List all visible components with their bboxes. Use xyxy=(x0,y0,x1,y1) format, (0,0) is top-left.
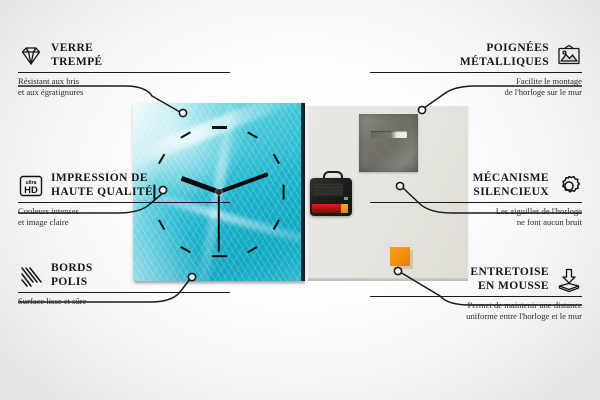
mechanism-indicator xyxy=(344,197,348,200)
callout-entretoise-en-mousse: ENTRETOISE EN MOUSSE Permet de maintenir… xyxy=(370,266,582,321)
infographic-canvas: VERRE TREMPÉ Résistant aux bris et aux é… xyxy=(0,0,600,400)
callout-header: ultra HD IMPRESSION DE HAUTE QUALITÉ xyxy=(18,172,230,199)
hanger-slot xyxy=(371,131,407,138)
callout-title: BORDS POLIS xyxy=(51,262,93,289)
callout-bords-polis: BORDS POLIS Surface lisse et sûre xyxy=(18,262,230,307)
mechanism-label xyxy=(313,183,343,196)
callout-divider xyxy=(18,292,230,293)
callout-title: MÉCANISME SILENCIEUX xyxy=(473,172,549,199)
diamond-icon xyxy=(18,44,44,68)
callout-title: VERRE TREMPÉ xyxy=(51,42,103,69)
callout-divider xyxy=(370,72,582,73)
callout-divider xyxy=(370,296,582,297)
quartz-mechanism xyxy=(309,171,353,217)
callout-description: Surface lisse et sûre xyxy=(18,296,230,306)
callout-header: ENTRETOISE EN MOUSSE xyxy=(370,266,582,293)
metal-hanger-plate xyxy=(359,114,418,172)
callout-divider xyxy=(370,202,582,203)
callout-description: Facilite le montage de l'horloge sur le … xyxy=(370,76,582,97)
hour-marker xyxy=(212,126,227,128)
framed-picture-icon xyxy=(556,44,582,68)
ultra-hd-icon: ultra HD xyxy=(18,174,44,198)
svg-text:HD: HD xyxy=(24,185,38,196)
hour-marker xyxy=(282,184,284,199)
callout-title: POIGNÉES MÉTALLIQUES xyxy=(460,42,549,69)
callout-divider xyxy=(18,72,230,73)
callout-description: Résistant aux bris et aux égratignures xyxy=(18,76,230,97)
callout-description: Les aiguilles de l'horloge ne font aucun… xyxy=(370,206,582,227)
callout-header: POIGNÉES MÉTALLIQUES xyxy=(370,42,582,69)
callout-impression-haute-qualite: ultra HD IMPRESSION DE HAUTE QUALITÉ Cou… xyxy=(18,172,230,227)
mechanism-body xyxy=(310,178,352,216)
callout-mecanisme-silencieux: MÉCANISME SILENCIEUX Les aiguilles de l'… xyxy=(370,172,582,227)
arrow-down-pad-icon xyxy=(556,268,582,292)
polished-edges-icon xyxy=(18,264,44,288)
callout-title: IMPRESSION DE HAUTE QUALITÉ xyxy=(51,172,153,199)
callout-header: MÉCANISME SILENCIEUX xyxy=(370,172,582,199)
foam-spacer xyxy=(390,247,410,266)
callout-verre-trempe: VERRE TREMPÉ Résistant aux bris et aux é… xyxy=(18,42,230,97)
callout-poignees-metalliques: POIGNÉES MÉTALLIQUES Facilite le montage… xyxy=(370,42,582,97)
battery-terminal xyxy=(341,204,348,213)
callout-description: Permet de maintenir une distance uniform… xyxy=(370,300,582,321)
callout-description: Couleurs intenses et image claire xyxy=(18,206,230,227)
gear-icon xyxy=(556,174,582,198)
callout-title: ENTRETOISE EN MOUSSE xyxy=(470,266,549,293)
callout-divider xyxy=(18,202,230,203)
callout-header: VERRE TREMPÉ xyxy=(18,42,230,69)
callout-header: BORDS POLIS xyxy=(18,262,230,289)
glass-edge xyxy=(301,103,305,281)
